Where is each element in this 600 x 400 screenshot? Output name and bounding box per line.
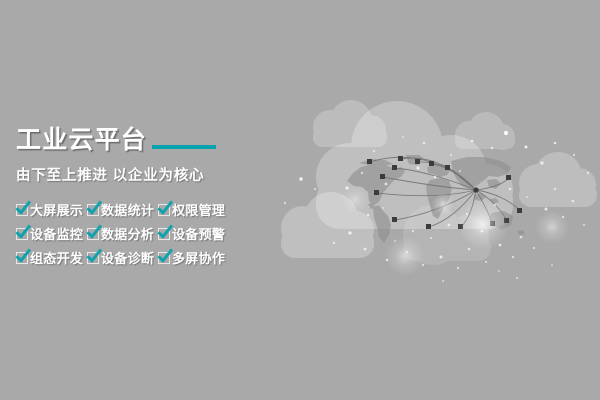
network-markers: [367, 156, 522, 229]
hero-text-block: 工业云平台 由下至上推进 以企业为核心 大屏展示 数据统计: [16, 124, 246, 267]
feature-item[interactable]: 组态开发: [16, 248, 87, 267]
feature-label: 多屏协作: [172, 248, 225, 267]
world-map: [347, 153, 525, 243]
feature-item[interactable]: 多屏协作: [158, 248, 246, 267]
feature-label: 大屏展示: [30, 200, 83, 219]
cloud-world-network-illustration: [255, 85, 600, 315]
feature-label: 设备预警: [172, 224, 225, 243]
page-subtitle: 由下至上推进 以企业为核心: [16, 164, 246, 185]
feature-label: 组态开发: [30, 248, 83, 267]
feature-item[interactable]: 设备诊断: [87, 248, 158, 267]
sparkle-particles: [284, 131, 589, 282]
feature-item[interactable]: 数据分析: [87, 224, 158, 243]
feature-label: 设备监控: [30, 224, 83, 243]
feature-label: 权限管理: [172, 200, 225, 219]
promo-banner: 工业云平台 由下至上推进 以企业为核心 大屏展示 数据统计: [0, 0, 600, 400]
check-icon: [158, 252, 170, 264]
page-title: 工业云平台: [16, 128, 147, 153]
check-icon: [16, 252, 28, 264]
feature-item[interactable]: 数据统计: [87, 200, 158, 219]
feature-item[interactable]: 设备监控: [16, 224, 87, 243]
check-icon: [87, 228, 99, 240]
check-icon: [16, 204, 28, 216]
feature-item[interactable]: 大屏展示: [16, 200, 87, 219]
feature-label: 数据分析: [101, 224, 154, 243]
connection-arcs: [370, 157, 520, 227]
check-icon: [87, 204, 99, 216]
check-icon: [16, 228, 28, 240]
check-icon: [158, 228, 170, 240]
feature-checklist: 大屏展示 数据统计 权限管理 设备监控: [16, 200, 246, 267]
cloud-shapes: [281, 100, 597, 265]
title-accent-rule: [152, 145, 216, 149]
glow-blooms: [341, 186, 569, 276]
check-icon: [87, 252, 99, 264]
feature-item[interactable]: 设备预警: [158, 224, 246, 243]
feature-item[interactable]: 权限管理: [158, 200, 246, 219]
feature-label: 设备诊断: [101, 248, 154, 267]
title-row: 工业云平台: [16, 124, 246, 156]
feature-label: 数据统计: [101, 200, 154, 219]
check-icon: [158, 204, 170, 216]
